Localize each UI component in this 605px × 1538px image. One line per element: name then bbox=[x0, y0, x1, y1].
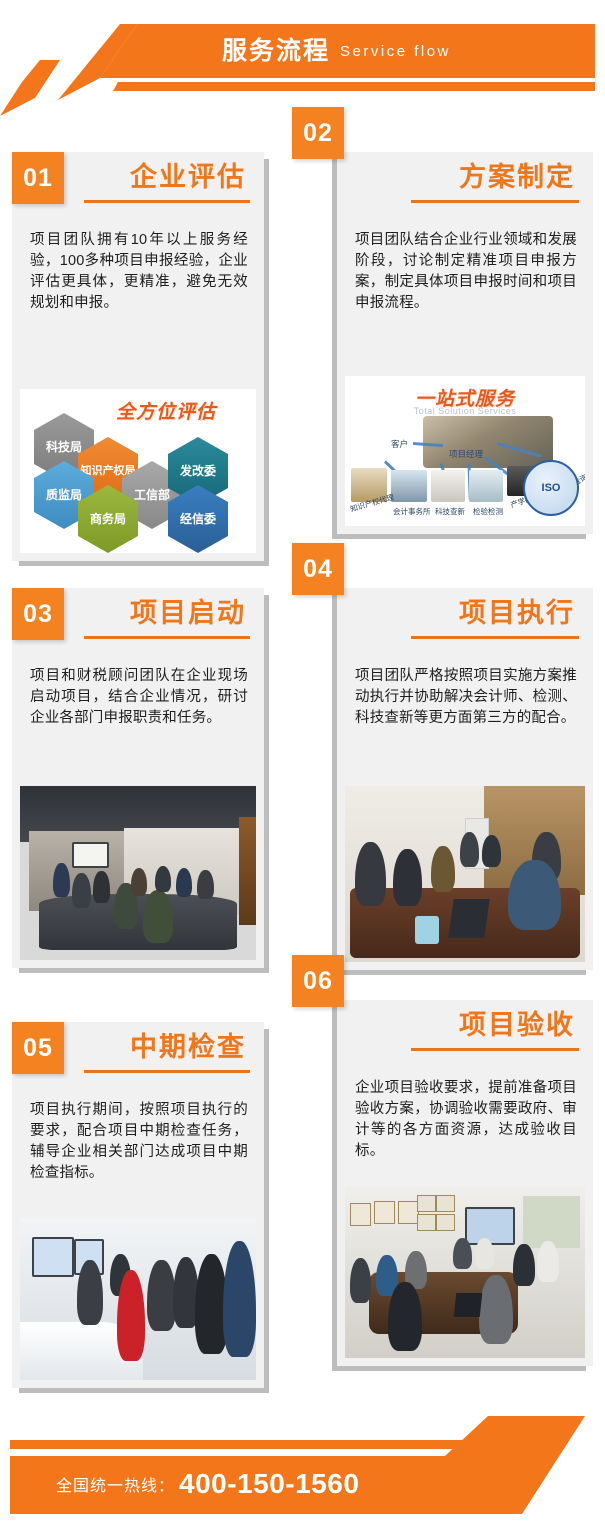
card-05[interactable]: 05 中期检查 项目执行期间，按照项目执行的要求，配合项目中期检查任务，辅导企业… bbox=[12, 1022, 264, 1388]
card-02[interactable]: 02 方案制定 项目团队结合企业行业领域和发展阶段，讨论制定精准项目申报方案，制… bbox=[337, 152, 593, 534]
card-06-title-rule bbox=[411, 1048, 579, 1051]
photo-person bbox=[479, 1275, 513, 1344]
card-03-body: 03 项目启动 项目和财税顾问团队在企业现场启动项目，结合企业情况，研讨企业各部… bbox=[12, 588, 264, 968]
hexagon-diagram-caption: 全方位评估 bbox=[116, 397, 216, 424]
card-05-title-rule bbox=[84, 1070, 250, 1073]
service-label-2: 科技查新 bbox=[435, 506, 465, 517]
card-01-number: 01 bbox=[12, 152, 64, 204]
photo-person bbox=[513, 1244, 535, 1285]
card-02-body: 02 方案制定 项目团队结合企业行业领域和发展阶段，讨论制定精准项目申报方案，制… bbox=[337, 152, 593, 534]
card-01-text: 项目团队拥有10年以上服务经验，100多种项目申报经验，企业评估更具体，更精准，… bbox=[12, 216, 264, 330]
photo-certificate bbox=[374, 1201, 395, 1224]
photo-certificate bbox=[436, 1214, 455, 1231]
card-06-body: 06 项目验收 企业项目验收要求，提前准备项目验收方案，协调验收需要政府、审计等… bbox=[337, 1000, 593, 1366]
card-01-title-rule bbox=[84, 200, 250, 203]
service-thumb-2 bbox=[431, 470, 465, 502]
photo-person bbox=[475, 1238, 494, 1269]
card-01-graphic: 全方位评估 科技局 知识产权局 质监局 工信部 商务局 发改委 经信委 bbox=[20, 389, 256, 553]
photo-whiteboard bbox=[72, 842, 109, 869]
hexagon-diagram: 全方位评估 科技局 知识产权局 质监局 工信部 商务局 发改委 经信委 bbox=[20, 389, 256, 553]
photo-person bbox=[147, 1260, 175, 1331]
card-05-photo bbox=[20, 1218, 256, 1380]
card-02-title-rule bbox=[411, 200, 579, 203]
photo-laptop bbox=[448, 899, 489, 938]
card-05-text: 项目执行期间，按照项目执行的要求，配合项目中期检查任务，辅导企业相关部门达成项目… bbox=[12, 1086, 264, 1200]
page-footer: 全国统一热线： 400-150-1560 bbox=[0, 1416, 605, 1538]
photo-bag bbox=[415, 916, 439, 944]
card-03-photo bbox=[20, 786, 256, 960]
one-stop-service-diagram: 一站式服务 Total Solution Services 客户 项目经理 bbox=[345, 376, 585, 526]
photo-wood-panel bbox=[239, 817, 256, 925]
service-label-3: 检验检测 bbox=[473, 506, 503, 517]
card-05-number: 05 bbox=[12, 1022, 64, 1074]
one-stop-caption-en: Total Solution Services bbox=[414, 406, 517, 416]
photo-laptop bbox=[454, 1293, 483, 1317]
card-04-text: 项目团队严格按照项目实施方案推动执行并协助解决会计师、检测、科技查新等更方面第三… bbox=[337, 652, 593, 745]
card-06[interactable]: 06 项目验收 企业项目验收要求，提前准备项目验收方案，协调验收需要政府、审计等… bbox=[337, 1000, 593, 1366]
card-04-number: 04 bbox=[292, 543, 344, 595]
photo-person bbox=[72, 873, 91, 908]
photo-meeting-room bbox=[20, 786, 256, 960]
card-06-number: 06 bbox=[292, 955, 344, 1007]
card-03-title-rule bbox=[84, 636, 250, 639]
hotline-label: 全国统一热线： bbox=[56, 1472, 175, 1496]
card-02-graphic: 一站式服务 Total Solution Services 客户 项目经理 bbox=[345, 376, 585, 526]
one-stop-node-customer: 客户 bbox=[391, 438, 408, 450]
card-03-number: 03 bbox=[12, 588, 64, 640]
photo-certificate bbox=[350, 1203, 371, 1226]
photo-person bbox=[482, 835, 501, 867]
photo-green-wall bbox=[523, 1196, 581, 1248]
photo-person bbox=[197, 870, 214, 900]
card-04[interactable]: 04 项目执行 项目团队严格按照项目实施方案推动执行并协助解决会计师、检测、科技… bbox=[337, 588, 593, 970]
card-06-head: 项目验收 bbox=[337, 1000, 593, 1064]
card-04-title: 项目执行 bbox=[351, 596, 579, 630]
photo-person bbox=[53, 863, 70, 898]
card-04-title-rule bbox=[411, 636, 579, 639]
card-02-head: 方案制定 bbox=[337, 152, 593, 216]
card-03[interactable]: 03 项目启动 项目和财税顾问团队在企业现场启动项目，结合企业情况，研讨企业各部… bbox=[12, 588, 264, 968]
photo-person bbox=[155, 866, 172, 892]
photo-person bbox=[393, 849, 422, 905]
photo-conference-table bbox=[39, 894, 237, 950]
card-05-body: 05 中期检查 项目执行期间，按照项目执行的要求，配合项目中期检查任务，辅导企业… bbox=[12, 1022, 264, 1388]
card-06-text: 企业项目验收要求，提前准备项目验收方案，协调验收需要政府、审计等的各方面资源，达… bbox=[337, 1064, 593, 1178]
photo-person bbox=[537, 1241, 559, 1282]
service-thumb-1 bbox=[391, 470, 427, 502]
service-thumb-3 bbox=[469, 470, 503, 502]
photo-person bbox=[223, 1241, 256, 1358]
photo-person bbox=[453, 1238, 472, 1269]
photo-person bbox=[93, 871, 110, 902]
card-04-body: 04 项目执行 项目团队严格按照项目实施方案推动执行并协助解决会计师、检测、科技… bbox=[337, 588, 593, 970]
photo-person bbox=[388, 1282, 422, 1351]
one-stop-node-manager: 项目经理 bbox=[449, 448, 483, 460]
card-04-head: 项目执行 bbox=[337, 588, 593, 652]
card-02-number: 02 bbox=[292, 107, 344, 159]
photo-person bbox=[355, 842, 386, 905]
photo-person bbox=[143, 890, 174, 942]
hotline-group: 全国统一热线： 400-150-1560 bbox=[56, 1468, 359, 1500]
photo-certificate bbox=[398, 1201, 419, 1224]
photo-certificate bbox=[436, 1195, 455, 1212]
page-title: 服务流程 bbox=[222, 36, 330, 66]
header-title-group: 服务流程 Service flow bbox=[222, 36, 451, 66]
card-01-body: 01 企业评估 项目团队拥有10年以上服务经验，100多种项目申报经验，企业评估… bbox=[12, 152, 264, 561]
certification-seal-icon: ISO bbox=[523, 460, 579, 516]
card-06-title: 项目验收 bbox=[351, 1008, 579, 1042]
photo-person bbox=[508, 860, 561, 930]
page-subtitle: Service flow bbox=[340, 40, 451, 66]
card-04-photo bbox=[345, 786, 585, 962]
photo-certificate bbox=[417, 1195, 436, 1212]
service-label-1: 会计事务所 bbox=[393, 506, 431, 517]
photo-projection-screen bbox=[465, 1207, 515, 1245]
service-flow-poster: 服务流程 Service flow 01 企业评估 项目团队拥有10年以上服务经… bbox=[0, 0, 605, 1538]
hotline-number[interactable]: 400-150-1560 bbox=[179, 1468, 359, 1500]
photo-person bbox=[77, 1260, 103, 1325]
page-header: 服务流程 Service flow bbox=[0, 0, 605, 100]
card-01[interactable]: 01 企业评估 项目团队拥有10年以上服务经验，100多种项目申报经验，企业评估… bbox=[12, 152, 264, 561]
photo-showroom-visit bbox=[20, 1218, 256, 1380]
photo-acceptance-meeting bbox=[345, 1186, 585, 1358]
card-06-photo bbox=[345, 1186, 585, 1358]
photo-certificate bbox=[417, 1214, 436, 1231]
photo-working-session bbox=[345, 786, 585, 962]
photo-display-screen bbox=[32, 1237, 74, 1277]
card-02-text: 项目团队结合企业行业领域和发展阶段，讨论制定精准项目申报方案，制定具体项目申报时… bbox=[337, 216, 593, 330]
card-03-text: 项目和财税顾问团队在企业现场启动项目，结合企业情况，研讨企业各部门申报职责和任务… bbox=[12, 652, 264, 745]
card-02-title: 方案制定 bbox=[351, 160, 579, 194]
